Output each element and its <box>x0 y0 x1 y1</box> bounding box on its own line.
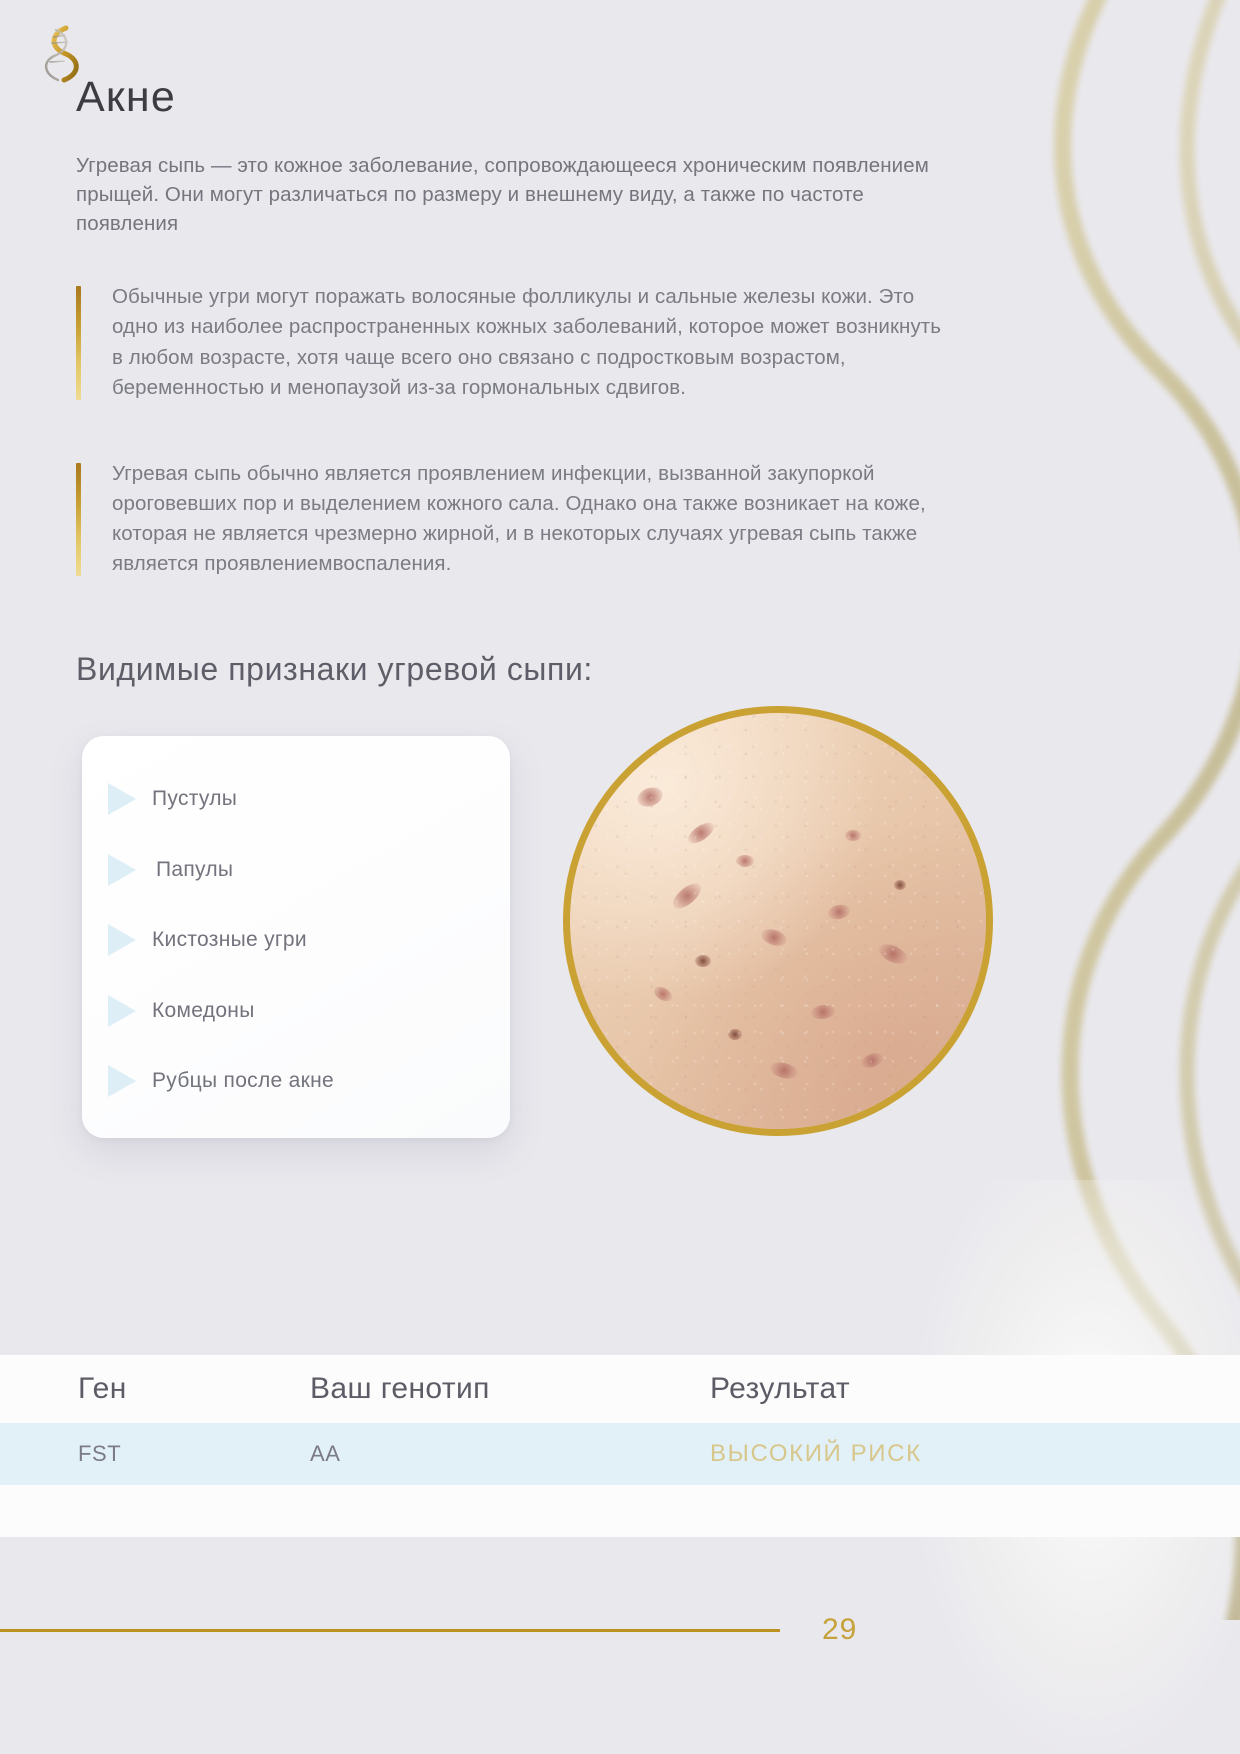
signs-card: Пустулы Папулы Кистозные угри Комедоны Р… <box>82 736 510 1138</box>
status-badge: ВЫСОКИЙ РИСК <box>710 1440 1240 1468</box>
table-bottom-spacer <box>0 1485 1240 1537</box>
list-item: Кистозные угри <box>108 911 482 969</box>
table-row: FST AA ВЫСОКИЙ РИСК <box>0 1423 1240 1485</box>
triangle-bullet-icon <box>108 1065 136 1097</box>
triangle-bullet-icon <box>108 924 136 956</box>
list-item-label: Комедоны <box>152 999 255 1023</box>
skin-photo-texture <box>570 713 986 1129</box>
acne-skin-photo <box>563 706 993 1136</box>
list-item: Папулы <box>108 841 482 899</box>
gene-result-table: Ген Ваш генотип Результат FST AA ВЫСОКИЙ… <box>0 1355 1240 1537</box>
highlight-quote-1: Обычные угри могут поражать волосяные фо… <box>76 282 956 403</box>
list-item-label: Пустулы <box>152 787 237 811</box>
list-item-label: Кистозные угри <box>152 928 307 952</box>
table-cell-gene: FST <box>0 1441 310 1467</box>
page-title: Акне <box>76 76 1240 119</box>
table-header-gene: Ген <box>0 1372 310 1406</box>
table-cell-genotype: AA <box>310 1441 710 1467</box>
dna-logo-icon <box>40 24 84 84</box>
list-item: Рубцы после акне <box>108 1052 482 1110</box>
page-footer: 29 <box>0 1610 1240 1650</box>
list-item-label: Рубцы после акне <box>152 1069 334 1093</box>
triangle-bullet-icon <box>108 854 136 886</box>
signs-block: Пустулы Папулы Кистозные угри Комедоны Р… <box>76 736 1240 1156</box>
footer-divider <box>0 1629 780 1632</box>
list-item: Пустулы <box>108 770 482 828</box>
content-column: Акне Угревая сыпь — это кожное заболеван… <box>0 76 1240 1156</box>
page-number: 29 <box>822 1613 857 1647</box>
triangle-bullet-icon <box>108 783 136 815</box>
report-page: Акне Угревая сыпь — это кожное заболеван… <box>0 0 1240 1754</box>
table-header-result: Результат <box>710 1372 1240 1406</box>
table-header-row: Ген Ваш генотип Результат <box>0 1355 1240 1423</box>
list-item: Комедоны <box>108 982 482 1040</box>
triangle-bullet-icon <box>108 995 136 1027</box>
highlight-quote-2: Угревая сыпь обычно является проявлением… <box>76 459 956 580</box>
table-header-genotype: Ваш генотип <box>310 1372 710 1406</box>
highlight-quote-1-text: Обычные угри могут поражать волосяные фо… <box>112 285 941 398</box>
list-item-label: Папулы <box>152 858 233 882</box>
signs-section-heading: Видимые признаки угревой сыпи: <box>76 651 1240 688</box>
highlight-quote-2-text: Угревая сыпь обычно является проявлением… <box>112 462 926 575</box>
intro-paragraph: Угревая сыпь — это кожное заболевание, с… <box>76 151 956 238</box>
